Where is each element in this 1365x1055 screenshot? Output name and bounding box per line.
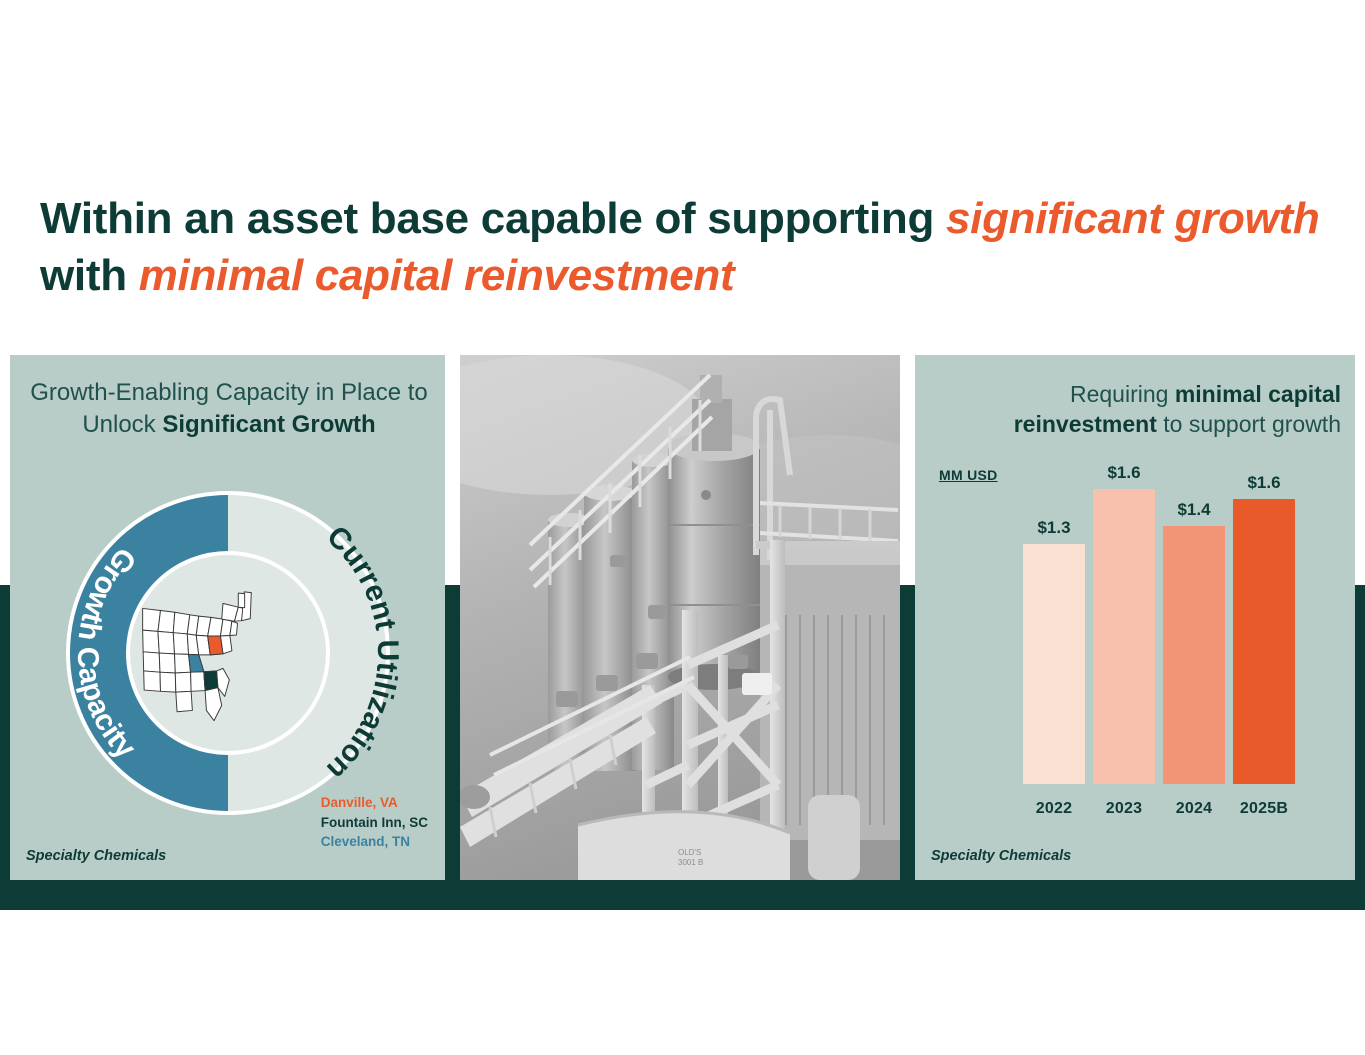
bar-value-2024: $1.4 [1163,500,1225,520]
location-item-fountain-inn-sc: Fountain Inn, SC [321,813,428,833]
location-item-danville-va: Danville, VA [321,793,428,813]
svg-text:OLD'S: OLD'S [678,848,701,857]
right-panel-footer: Specialty Chemicals [931,848,1071,864]
right-panel: Requiring minimal capital reinvestment t… [915,355,1355,880]
title-segment-1: Within an asset base capable of supporti… [40,194,946,243]
left-header-line-2-bold: Significant Growth [162,411,375,438]
bar-label-2025b: 2025B [1233,800,1295,818]
bar-rect-2023 [1093,489,1155,784]
title-segment-3: with [40,251,139,300]
bar-rect-2024 [1163,526,1225,784]
bar-label-2023: 2023 [1093,800,1155,818]
bar-label-2024: 2024 [1163,800,1225,818]
bar-value-2022: $1.3 [1023,518,1085,538]
location-item-cleveland-tn: Cleveland, TN [321,832,428,852]
left-header-line-2-plain: Unlock [82,411,162,438]
bar-rect-2025b [1233,499,1295,784]
bar-value-2025b: $1.6 [1233,473,1295,493]
bar-rect-2022 [1023,544,1085,784]
bar-value-2023: $1.6 [1093,463,1155,483]
bar-label-2022: 2022 [1023,800,1085,818]
title-segment-2: significant growth [946,194,1319,243]
left-panel-header: Growth-Enabling Capacity in Place to Unl… [24,377,434,442]
industrial-plant-photo: OLD'S 3001 B [460,355,900,880]
left-panel-footer: Specialty Chemicals [26,848,166,864]
state-virginia [208,636,223,655]
left-header-line-1: Growth-Enabling Capacity in Place to [30,379,428,406]
svg-text:3001 B: 3001 B [678,858,703,867]
left-panel: Growth-Enabling Capacity in Place to Unl… [10,355,445,880]
page-title: Within an asset base capable of supporti… [40,190,1340,304]
capacity-donut-chart: Growth Capacity Current Utilization [43,468,413,838]
right-header-plain-2: to support growth [1157,411,1341,437]
title-segment-4: minimal capital reinvestment [139,251,735,300]
plant-photo-panel: OLD'S 3001 B [460,355,900,880]
right-header-plain-1: Requiring [1070,381,1175,407]
facility-locations-list: Danville, VA Fountain Inn, SC Cleveland,… [321,793,428,852]
right-panel-header: Requiring minimal capital reinvestment t… [931,379,1341,440]
capex-bar-chart: $1.3 2022 $1.6 2023 $1.4 2024 $1.6 2025B [935,500,1335,830]
state-south-carolina [204,671,218,691]
chart-units-label: MM USD [939,467,998,483]
